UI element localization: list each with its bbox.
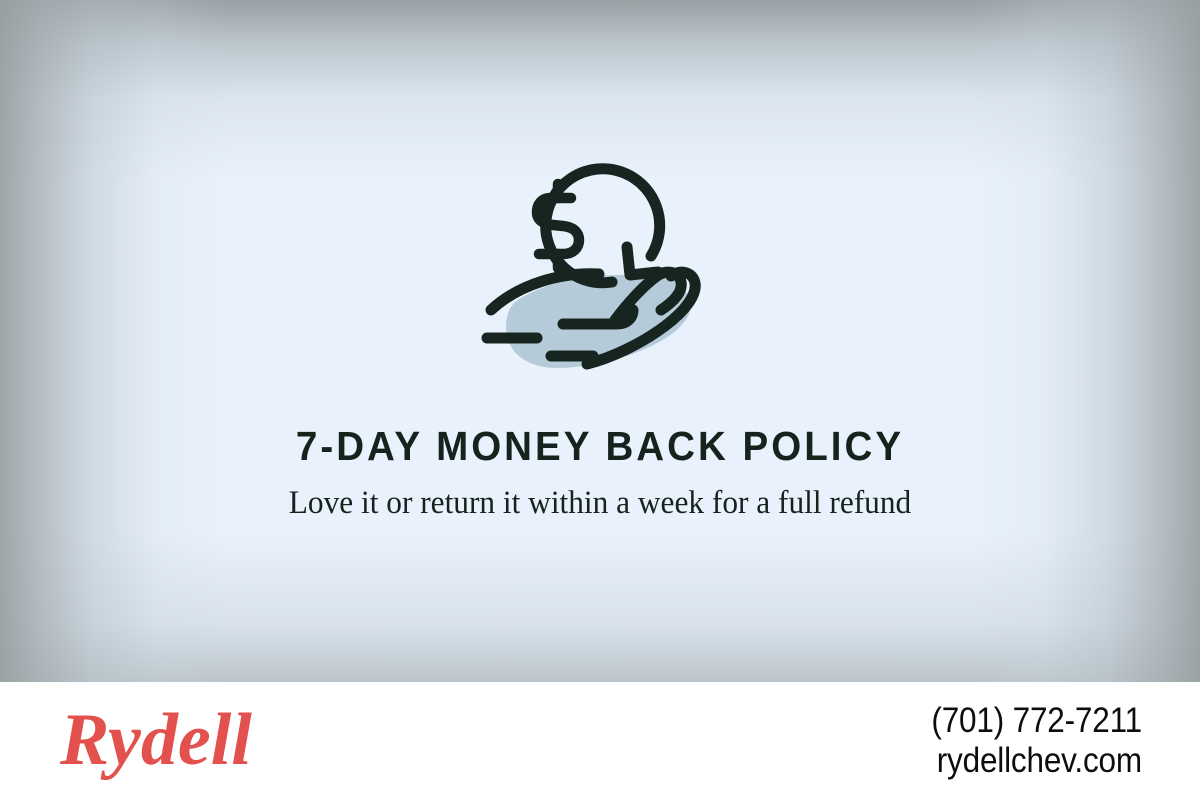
footer-bar: Rydell (701) 772-7211 rydellchev.com — [0, 682, 1200, 800]
promo-card: 7-DAY MONEY BACK POLICY Love it or retur… — [0, 0, 1200, 800]
icon-container — [0, 152, 1200, 388]
money-back-hand-icon — [475, 152, 725, 388]
contact-info: (701) 772-7211 rydellchev.com — [908, 702, 1142, 781]
rydell-logo[interactable]: Rydell — [58, 698, 303, 784]
hero-panel: 7-DAY MONEY BACK POLICY Love it or retur… — [0, 0, 1200, 682]
page-title: 7-DAY MONEY BACK POLICY — [139, 424, 1060, 468]
phone-number[interactable]: (701) 772-7211 — [931, 702, 1142, 741]
promo-text-block: 7-DAY MONEY BACK POLICY Love it or retur… — [0, 424, 1200, 525]
website-url[interactable]: rydellchev.com — [931, 742, 1142, 781]
promo-subheadline: Love it or return it within a week for a… — [272, 482, 928, 524]
dollar-sign — [537, 184, 579, 268]
rydell-wordmark-text: Rydell — [59, 699, 252, 781]
vignette-bottom — [0, 532, 1200, 682]
